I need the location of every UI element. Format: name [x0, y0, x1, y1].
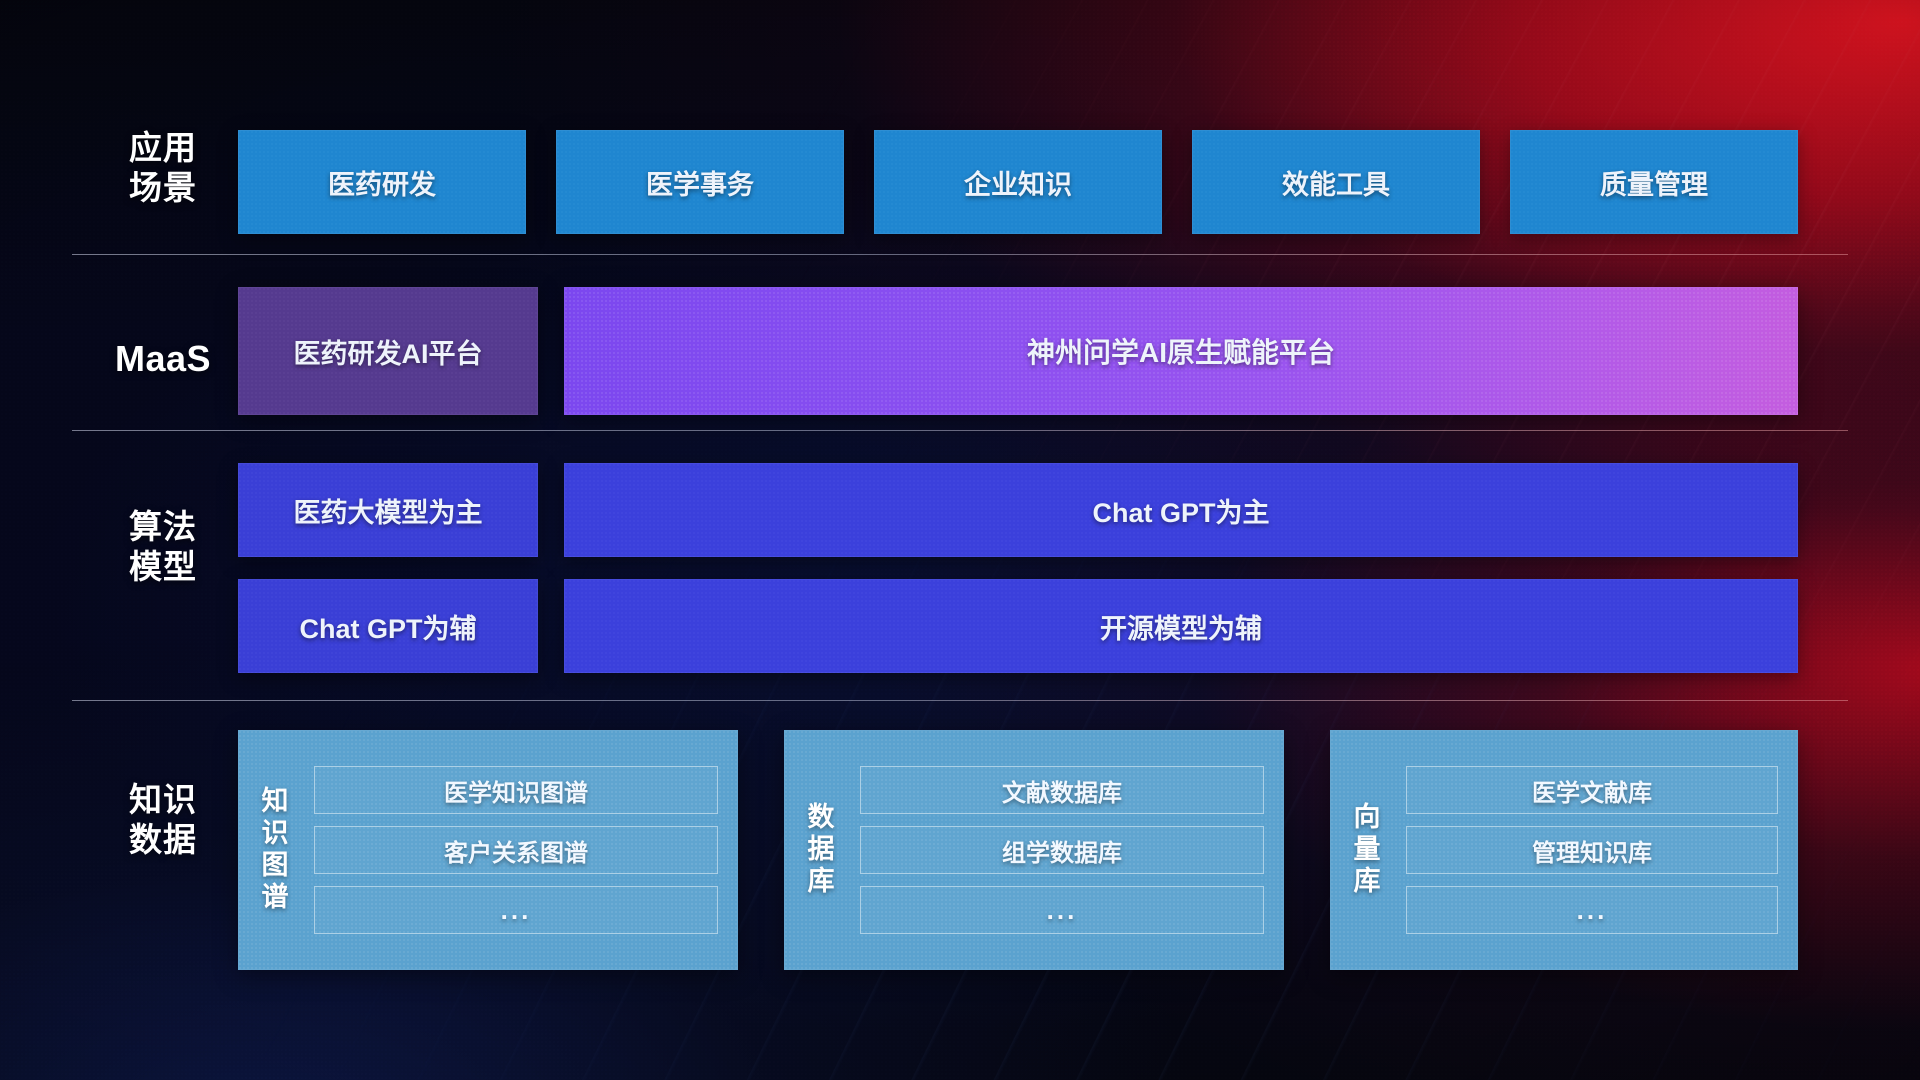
- row-label-algorithm-models: 算法 模型: [88, 507, 238, 588]
- knowledge-group-3-title-char: 量: [1354, 834, 1381, 866]
- card-app-1[interactable]: 医药研发: [238, 130, 526, 234]
- knowledge-group-database[interactable]: 数 据 库 文献数据库 组学数据库 ...: [784, 730, 1284, 970]
- row-label-maas: MaaS: [88, 337, 238, 381]
- card-maas-left[interactable]: 医药研发AI平台: [238, 287, 538, 415]
- row-label-knowledge-data: 知识 数据: [88, 780, 238, 861]
- divider-after-application-scenarios: [72, 254, 1848, 255]
- diagram-stage: 应用 场景 医药研发 医学事务 企业知识 效能工具 质量管理 Maa: [0, 0, 1920, 1080]
- row-label-line: 知识: [88, 780, 238, 820]
- card-algo-secondary-left[interactable]: Chat GPT为辅: [238, 579, 538, 673]
- knowledge-item[interactable]: 医学知识图谱: [314, 766, 718, 814]
- knowledge-item[interactable]: 管理知识库: [1406, 826, 1778, 874]
- diagram-content: 应用 场景 医药研发 医学事务 企业知识 效能工具 质量管理 Maa: [72, 0, 1848, 1080]
- card-app-2-label: 医学事务: [636, 163, 764, 202]
- knowledge-item[interactable]: 组学数据库: [860, 826, 1264, 874]
- knowledge-item-more[interactable]: ...: [314, 886, 718, 934]
- knowledge-item-more[interactable]: ...: [1406, 886, 1778, 934]
- row-label-application-scenarios: 应用 场景: [88, 128, 238, 209]
- knowledge-group-3-items: 医学文献库 管理知识库 ...: [1404, 730, 1798, 970]
- knowledge-group-1-title-char: 知: [262, 786, 289, 818]
- card-algo-secondary-right-label: 开源模型为辅: [1090, 607, 1272, 646]
- card-app-4[interactable]: 效能工具: [1192, 130, 1480, 234]
- card-app-4-label: 效能工具: [1272, 163, 1400, 202]
- knowledge-group-1-items: 医学知识图谱 客户关系图谱 ...: [312, 730, 738, 970]
- card-app-5[interactable]: 质量管理: [1510, 130, 1798, 234]
- knowledge-group-vector-store[interactable]: 向 量 库 医学文献库 管理知识库 ...: [1330, 730, 1798, 970]
- divider-after-algorithm-models: [72, 700, 1848, 701]
- knowledge-item[interactable]: 医学文献库: [1406, 766, 1778, 814]
- divider-after-maas: [72, 430, 1848, 431]
- knowledge-group-2-title: 数 据 库: [784, 730, 858, 970]
- row-label-line: 场景: [88, 168, 238, 208]
- row-label-line: 模型: [88, 547, 238, 587]
- card-maas-right-label: 神州问学AI原生赋能平台: [1017, 331, 1345, 371]
- knowledge-group-1-title-char: 谱: [262, 882, 289, 914]
- card-algo-secondary-right[interactable]: 开源模型为辅: [564, 579, 1798, 673]
- knowledge-group-1-title-char: 识: [262, 818, 289, 850]
- card-algo-primary-right[interactable]: Chat GPT为主: [564, 463, 1798, 557]
- card-algo-primary-left-label: 医药大模型为主: [284, 491, 493, 530]
- knowledge-group-3-title-char: 库: [1354, 866, 1381, 898]
- knowledge-item[interactable]: 客户关系图谱: [314, 826, 718, 874]
- card-maas-right[interactable]: 神州问学AI原生赋能平台: [564, 287, 1798, 415]
- knowledge-group-2-title-char: 据: [808, 834, 835, 866]
- knowledge-group-2-title-char: 库: [808, 866, 835, 898]
- card-maas-left-label: 医药研发AI平台: [284, 332, 493, 371]
- row-label-line: 数据: [88, 820, 238, 860]
- card-algo-secondary-left-label: Chat GPT为辅: [289, 607, 486, 646]
- knowledge-group-3-title-char: 向: [1354, 802, 1381, 834]
- knowledge-group-knowledge-graph[interactable]: 知 识 图 谱 医学知识图谱 客户关系图谱 ...: [238, 730, 738, 970]
- knowledge-group-3-title: 向 量 库: [1330, 730, 1404, 970]
- card-app-3-label: 企业知识: [954, 163, 1082, 202]
- knowledge-group-1-title-char: 图: [262, 850, 289, 882]
- knowledge-group-1-title: 知 识 图 谱: [238, 730, 312, 970]
- row-label-line: MaaS: [88, 337, 238, 381]
- knowledge-group-2-items: 文献数据库 组学数据库 ...: [858, 730, 1284, 970]
- card-app-1-label: 医药研发: [318, 163, 446, 202]
- card-app-3[interactable]: 企业知识: [874, 130, 1162, 234]
- card-app-5-label: 质量管理: [1590, 163, 1718, 202]
- knowledge-item[interactable]: 文献数据库: [860, 766, 1264, 814]
- knowledge-group-2-title-char: 数: [808, 802, 835, 834]
- row-label-line: 算法: [88, 507, 238, 547]
- row-label-line: 应用: [88, 128, 238, 168]
- knowledge-item-more[interactable]: ...: [860, 886, 1264, 934]
- card-app-2[interactable]: 医学事务: [556, 130, 844, 234]
- card-algo-primary-right-label: Chat GPT为主: [1082, 491, 1279, 530]
- card-algo-primary-left[interactable]: 医药大模型为主: [238, 463, 538, 557]
